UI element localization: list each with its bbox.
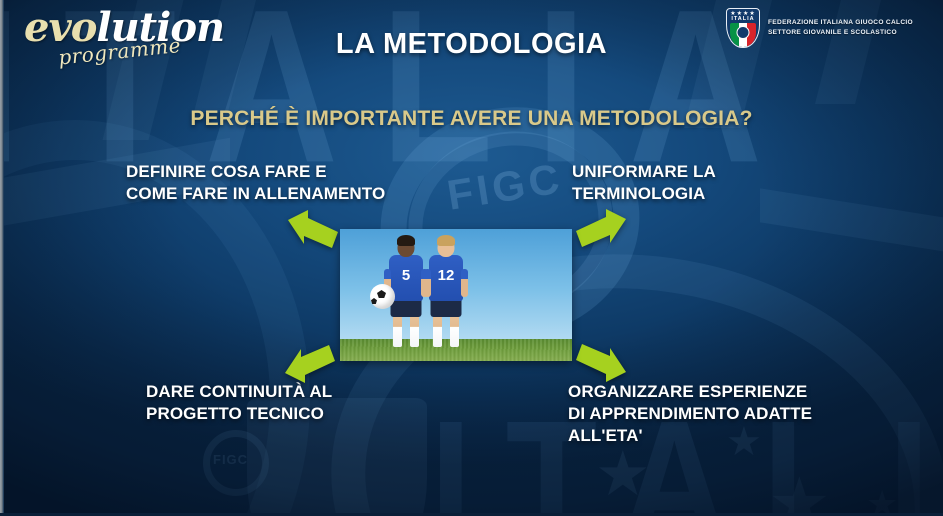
slide-title: LA METODOLOGIA <box>0 28 943 61</box>
photo-player-right: 12 <box>426 247 466 347</box>
statement-bottom-left: DARE CONTINUITÀ AL PROGETTO TECNICO <box>146 381 332 425</box>
statement-top-right: UNIFORMARE LA TERMINOLOGIA <box>572 161 716 205</box>
arrow-down-left-icon <box>283 339 339 385</box>
arrow-up-left-icon <box>286 208 342 254</box>
photo-player-left: 5 <box>386 247 426 347</box>
figc-italia-label: ITALIA <box>727 16 759 22</box>
arrow-up-right-icon <box>572 207 628 253</box>
soccer-kids-photo: 5 12 <box>340 229 572 361</box>
slide-canvas: ITALIA ITALIA FIGC FIGC ★ ★ ★ ★ ★ evolut… <box>0 0 943 516</box>
photo-soccer-ball <box>370 284 395 309</box>
photo-jersey-number-left: 5 <box>389 267 423 284</box>
figc-text-line1: FEDERAZIONE ITALIANA GIUOCO CALCIO <box>768 18 913 28</box>
slide-subtitle: PERCHÉ È IMPORTANTE AVERE UNA METODOLOGI… <box>0 107 943 131</box>
slide-left-edge <box>0 0 4 516</box>
statement-bottom-right: ORGANIZZARE ESPERIENZE DI APPRENDIMENTO … <box>568 381 812 446</box>
photo-jersey-number-right: 12 <box>429 267 463 284</box>
arrow-down-right-icon <box>572 338 628 384</box>
statement-top-left: DEFINIRE COSA FARE E COME FARE IN ALLENA… <box>126 161 385 205</box>
